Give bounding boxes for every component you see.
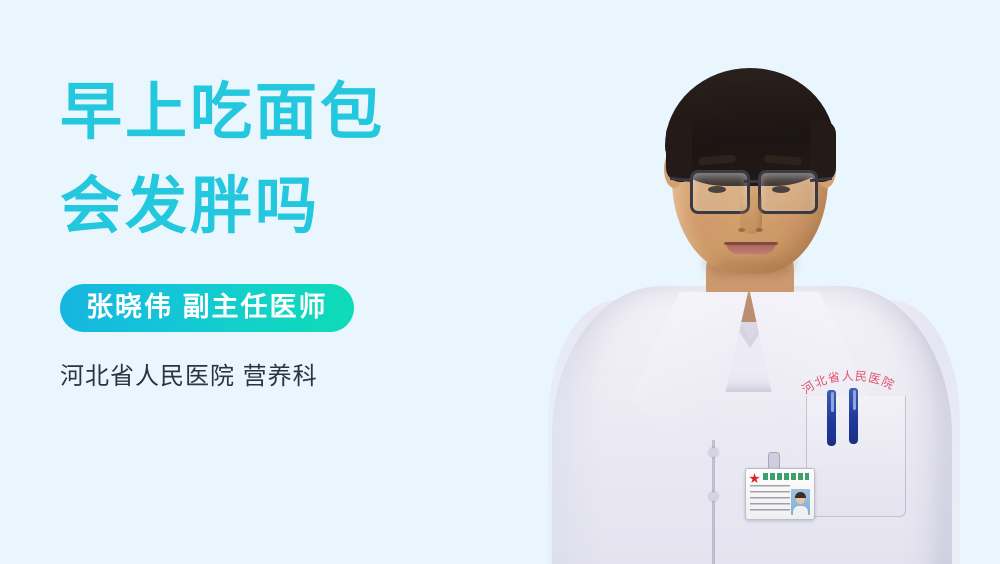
doctor-info-card: 河北省人民医院 — [0, 0, 1000, 564]
id-badge — [745, 468, 815, 520]
id-photo-body — [793, 506, 808, 515]
headline-line-2: 会发胖吗 — [60, 170, 490, 244]
headline-line-1: 早上吃面包 — [60, 76, 490, 150]
hair-side-left — [666, 120, 692, 182]
photo-edge-fade-right — [940, 0, 1000, 564]
cheek-left — [690, 212, 724, 234]
photo-edge-fade-left — [500, 0, 590, 564]
chin-shadow — [714, 258, 786, 274]
nostril-right — [756, 228, 763, 232]
doctor-portrait-photo: 河北省人民医院 — [500, 0, 1000, 564]
pen-clip-icon — [831, 392, 834, 412]
cheek-right — [776, 212, 810, 234]
id-badge-photo — [791, 489, 810, 515]
text-column: 早上吃面包 会发胖吗 张晓伟 副主任医师 河北省人民医院 营养科 — [60, 76, 490, 392]
coat-placket — [712, 440, 715, 564]
id-photo-hair — [795, 492, 806, 498]
id-badge-header-text — [763, 473, 809, 480]
hospital-affiliation-text: 河北省人民医院 营养科 — [60, 362, 490, 392]
eyeglasses-lens-right — [758, 170, 818, 214]
party-emblem-icon — [749, 473, 760, 484]
lip-line — [724, 242, 778, 245]
doctor-credential-badge: 张晓伟 副主任医师 — [60, 284, 354, 332]
coat-button — [709, 492, 718, 501]
eyeglasses-bridge — [744, 180, 758, 183]
coat-button — [709, 448, 718, 457]
nostril-left — [738, 228, 745, 232]
id-badge-detail-lines — [750, 485, 790, 515]
pen-clip-icon — [853, 390, 856, 410]
